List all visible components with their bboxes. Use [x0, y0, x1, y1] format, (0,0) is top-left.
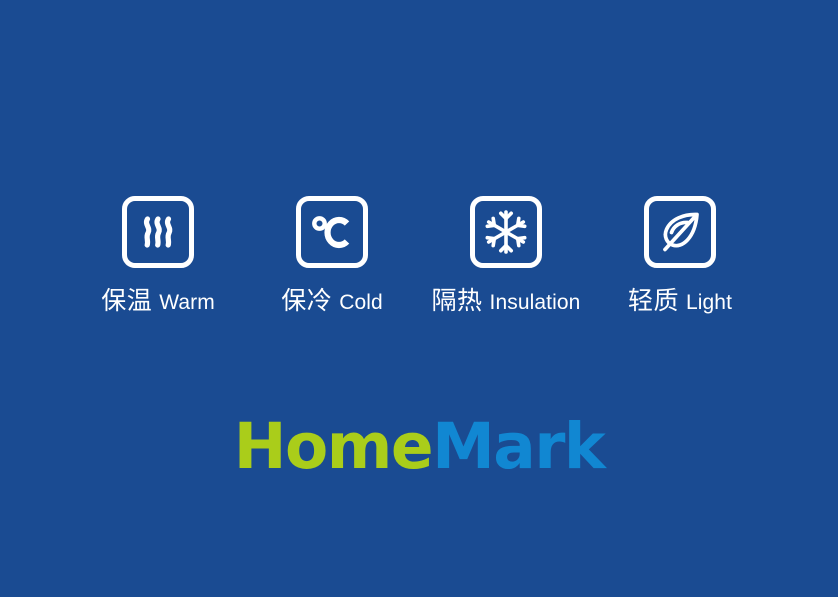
- brand-logo: HomeMark: [0, 415, 838, 478]
- feature-label-cold: 保冷 Cold: [281, 289, 383, 314]
- feature-icon-box: [470, 196, 542, 268]
- feature-label-en: Insulation: [490, 292, 581, 313]
- product-feature-banner: 保温 Warm 保冷 Cold: [0, 0, 838, 597]
- feature-icon-box: [296, 196, 368, 268]
- feature-label-warm: 保温 Warm: [101, 289, 215, 314]
- feature-label-insulation: 隔热 Insulation: [432, 289, 581, 314]
- feature-label-cn: 保冷: [281, 289, 332, 314]
- feature-label-cn: 隔热: [432, 289, 483, 314]
- feature-label-en: Warm: [159, 292, 215, 313]
- feature-label-cn: 保温: [101, 289, 152, 314]
- feature-item-warm: 保温 Warm: [71, 196, 245, 314]
- brand-logo-home: Home: [234, 410, 432, 483]
- feature-label-light: 轻质 Light: [628, 289, 732, 314]
- feature-icon-box: [122, 196, 194, 268]
- feature-icon-box: [644, 196, 716, 268]
- feather-leaf-icon: [657, 209, 703, 255]
- feature-item-cold: 保冷 Cold: [245, 196, 419, 314]
- feature-label-en: Cold: [339, 292, 383, 313]
- brand-logo-mark: Mark: [432, 410, 604, 483]
- feature-list: 保温 Warm 保冷 Cold: [0, 196, 838, 314]
- snowflake-icon: [483, 209, 529, 255]
- feature-label-en: Light: [686, 292, 732, 313]
- feature-item-light: 轻质 Light: [593, 196, 767, 314]
- feature-label-cn: 轻质: [628, 289, 679, 314]
- celsius-degree-icon: [309, 210, 355, 254]
- feature-item-insulation: 隔热 Insulation: [419, 196, 593, 314]
- heat-waves-icon: [136, 210, 180, 254]
